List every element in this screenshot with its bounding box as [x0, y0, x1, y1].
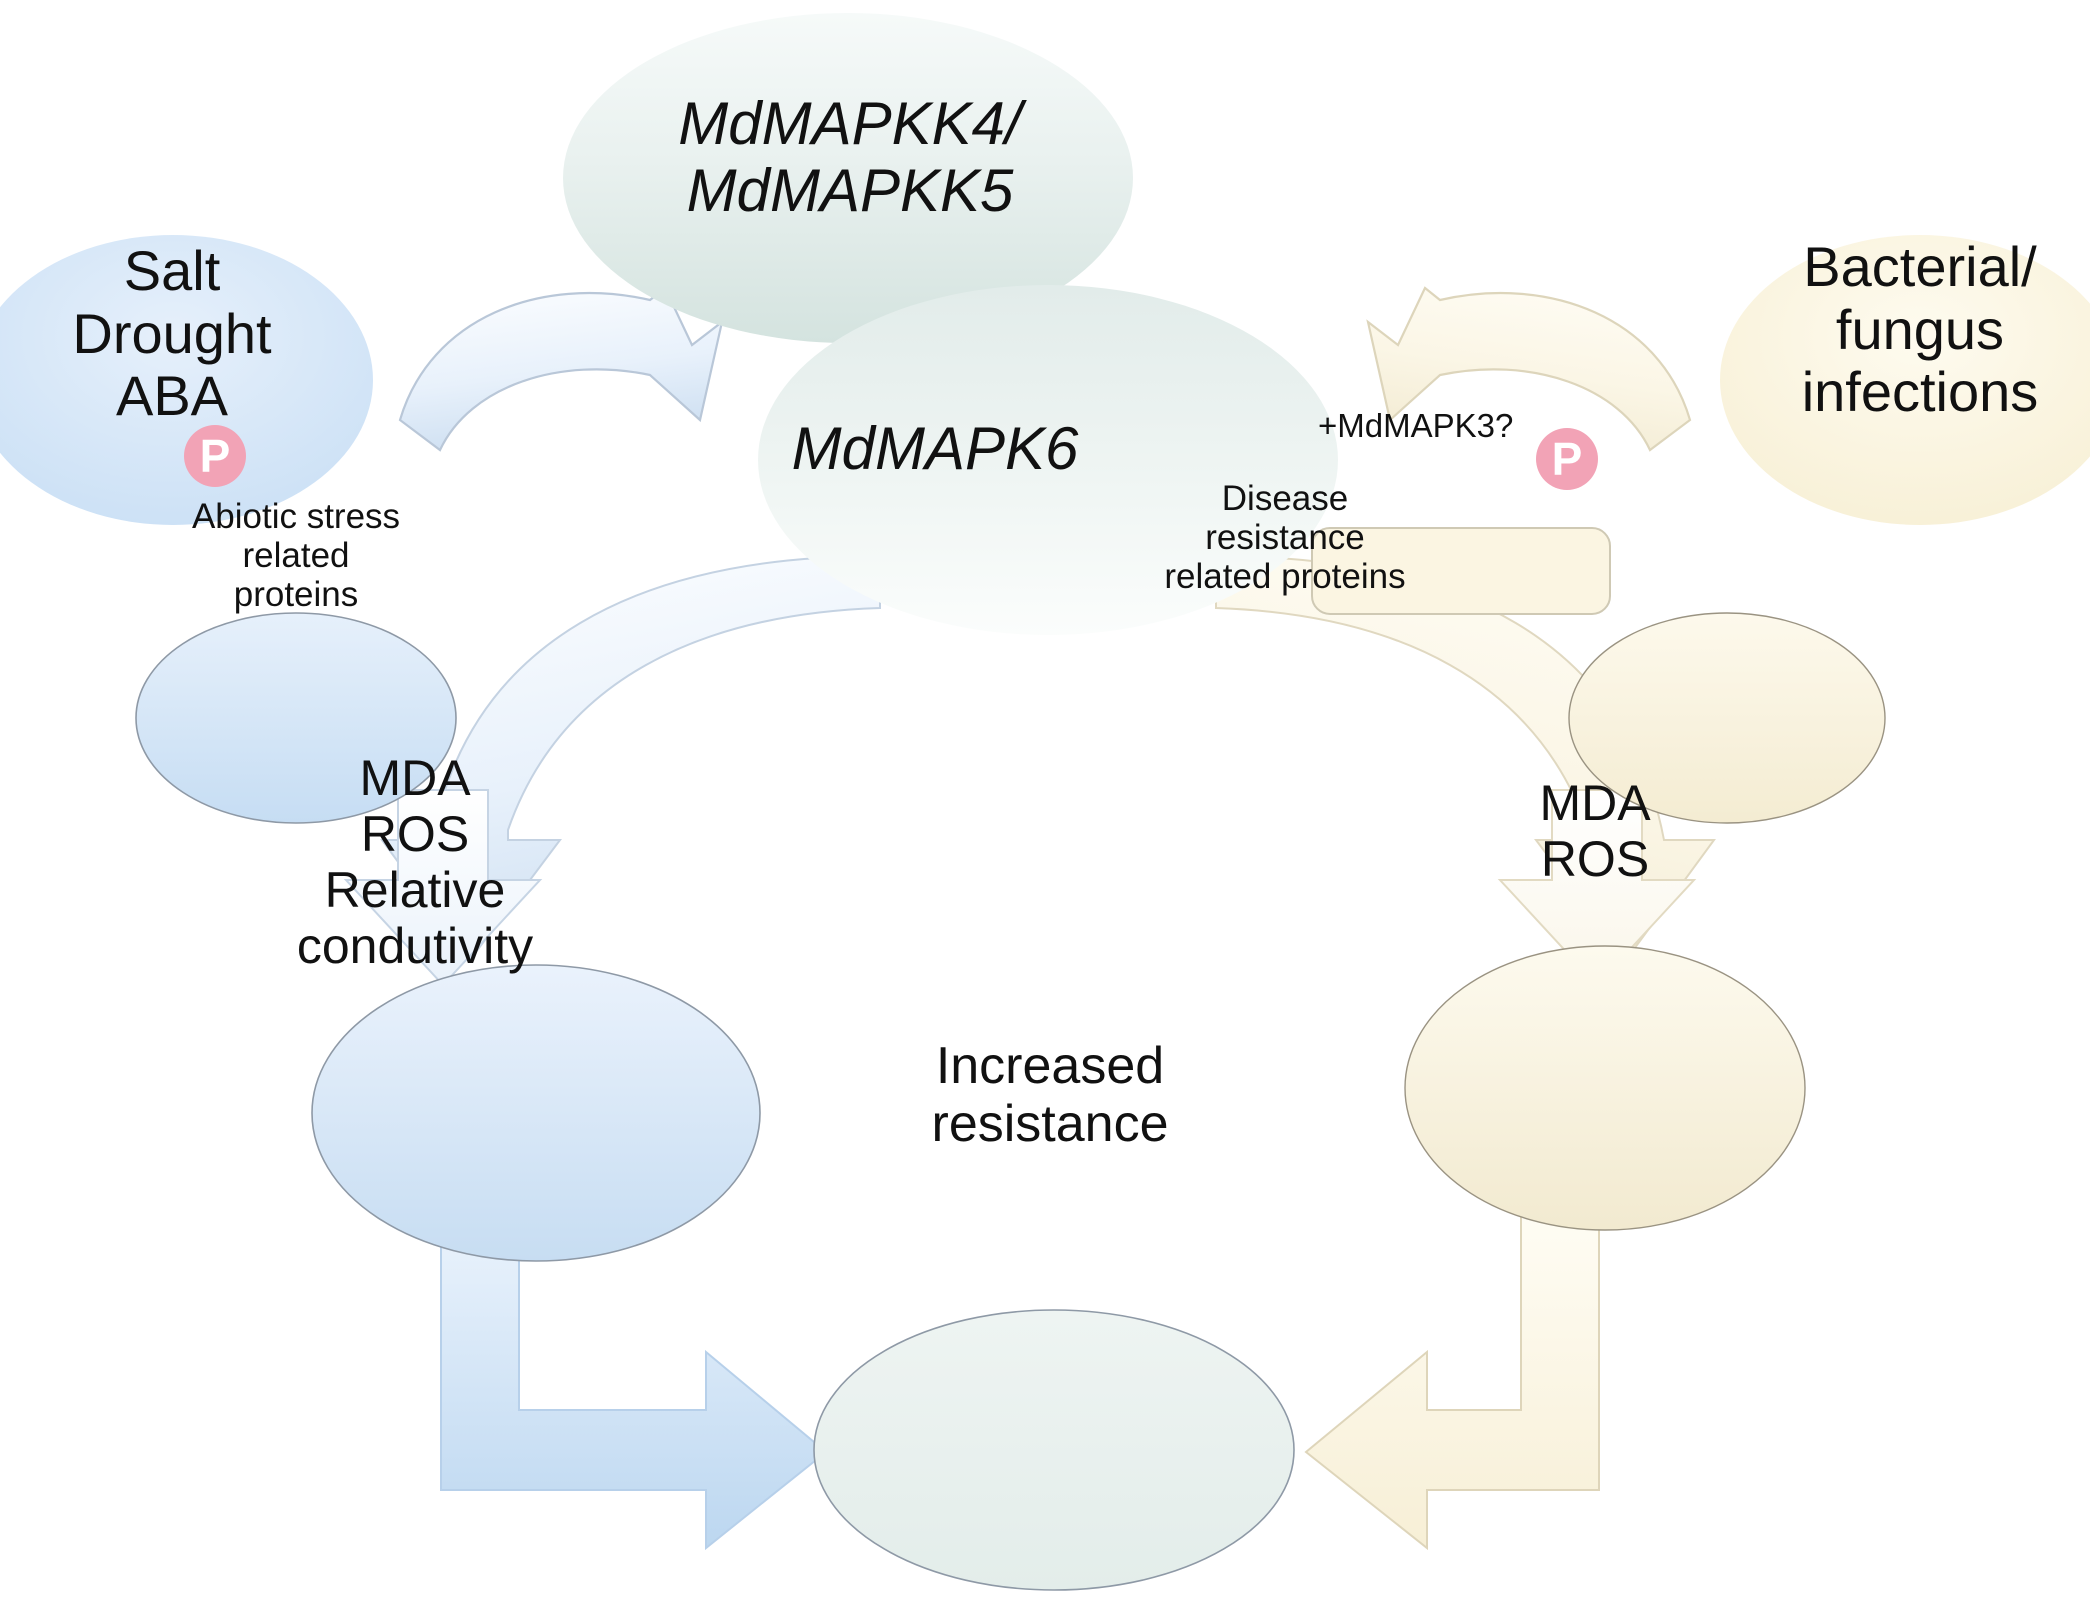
phosphorylation-badge-left: P: [184, 425, 246, 487]
node-disease-proteins[interactable]: [1569, 613, 1885, 823]
edge-mda-right-to-result: [1306, 1200, 1599, 1548]
node-mda-biotic[interactable]: [1405, 946, 1805, 1230]
node-abiotic-proteins[interactable]: [136, 613, 456, 823]
edge-pathogen-to-mapk6: [1368, 288, 1690, 450]
node-increased-resistance[interactable]: [814, 1310, 1294, 1590]
phosphorylation-badge-right: P: [1536, 428, 1598, 490]
node-biotic-stimuli[interactable]: [1720, 235, 2090, 525]
diagram-vector-layer: [0, 0, 2090, 1619]
edge-stimuli-to-mapk6: [400, 288, 722, 450]
node-abiotic-stimuli[interactable]: [0, 235, 373, 525]
pathway-diagram: MdMAPKK4/ MdMAPKK5 MdMAPK6 Salt Drought …: [0, 0, 2090, 1619]
node-mda-abiotic[interactable]: [312, 965, 760, 1261]
node-mdmapk6[interactable]: [758, 285, 1338, 635]
annotation-mdmapk3-box[interactable]: [1312, 528, 1610, 614]
edge-mda-left-to-result: [441, 1230, 826, 1548]
